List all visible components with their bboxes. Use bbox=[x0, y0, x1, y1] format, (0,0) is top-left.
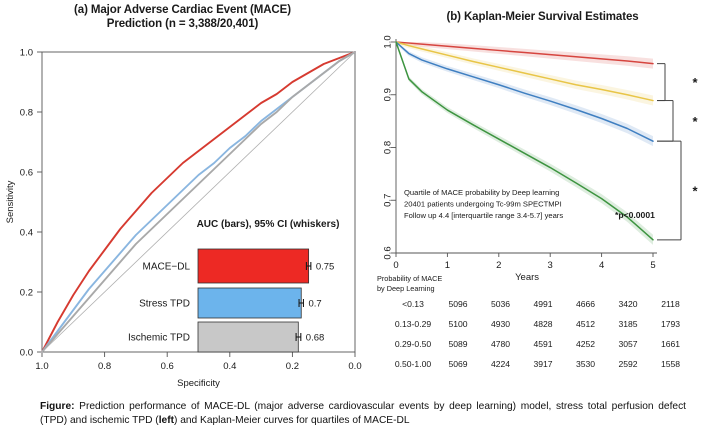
roc-xaxis-label: Specificity bbox=[177, 378, 220, 389]
risk-row-count: 3530 bbox=[576, 359, 595, 369]
km-ytick-label: 0.9 bbox=[383, 88, 394, 101]
km-xtick-label: 4 bbox=[599, 260, 604, 271]
caption-prefix: Figure: bbox=[40, 401, 75, 412]
km-ytick-label: 1.0 bbox=[383, 35, 394, 48]
km-plot: 0.60.70.80.91.0012345YearsQuartile of MA… bbox=[365, 0, 720, 392]
km-annotation-line: Follow up 4.4 [interquartile range 3.4-5… bbox=[404, 211, 563, 220]
significance-star: * bbox=[692, 75, 698, 90]
km-xtick-label: 2 bbox=[496, 260, 501, 271]
risk-table-header-line1: Probability of MACE bbox=[377, 274, 442, 283]
risk-table-header-line2: by Deep Learning bbox=[377, 284, 435, 293]
auc-bar-label: Stress TPD bbox=[139, 299, 190, 310]
auc-bar-value: 0.68 bbox=[306, 333, 325, 344]
roc-ytick-label: 0.6 bbox=[20, 167, 33, 178]
significance-star: * bbox=[692, 183, 698, 198]
risk-row-count: 4666 bbox=[576, 299, 595, 309]
km-ytick-label: 0.6 bbox=[383, 246, 394, 259]
roc-xtick-label: 1.0 bbox=[35, 361, 48, 372]
risk-row-count: 5089 bbox=[448, 339, 467, 349]
km-significance-bracket: * bbox=[657, 64, 698, 101]
risk-row-count: 1558 bbox=[661, 359, 680, 369]
risk-row-count: 5100 bbox=[448, 319, 467, 329]
auc-bar-label: MACE−DL bbox=[142, 262, 190, 273]
risk-row-count: 4930 bbox=[491, 319, 510, 329]
roc-xtick-label: 0.6 bbox=[161, 361, 174, 372]
auc-bar bbox=[198, 249, 309, 283]
risk-row-count: 3420 bbox=[618, 299, 637, 309]
figure-caption: Figure: Prediction performance of MACE-D… bbox=[40, 400, 686, 427]
figure-container: (a) Major Adverse Cardiac Event (MACE) P… bbox=[0, 0, 720, 442]
risk-row-count: 4780 bbox=[491, 339, 510, 349]
auc-bar bbox=[198, 288, 301, 318]
auc-bar-label: Ischemic TPD bbox=[128, 333, 190, 344]
roc-ytick-label: 0.8 bbox=[20, 107, 33, 118]
risk-row-label: <0.13 bbox=[402, 299, 424, 309]
panel-a-roc: (a) Major Adverse Cardiac Event (MACE) P… bbox=[0, 0, 365, 392]
risk-row-count: 4591 bbox=[533, 339, 552, 349]
risk-row-count: 3057 bbox=[618, 339, 637, 349]
risk-table-row: 0.13-0.29510049304828451231851793 bbox=[395, 319, 680, 329]
risk-table-row: <0.13509650364991466634202118 bbox=[402, 299, 680, 309]
roc-ytick-label: 0.2 bbox=[20, 287, 33, 298]
roc-ytick-label: 0.0 bbox=[20, 347, 33, 358]
auc-legend-title: AUC (bars), 95% CI (whiskers) bbox=[197, 219, 340, 230]
risk-row-count: 3185 bbox=[618, 319, 637, 329]
roc-xtick-label: 0.8 bbox=[98, 361, 111, 372]
risk-row-count: 4224 bbox=[491, 359, 510, 369]
risk-row-count: 4991 bbox=[533, 299, 552, 309]
km-significance-bracket: * bbox=[657, 141, 698, 240]
risk-row-count: 1793 bbox=[661, 319, 680, 329]
risk-row-count: 4828 bbox=[533, 319, 552, 329]
auc-bar-value: 0.75 bbox=[316, 262, 335, 273]
roc-xtick-label: 0.0 bbox=[348, 361, 361, 372]
km-significance-bracket: * bbox=[657, 101, 698, 142]
risk-row-label: 0.50-1.00 bbox=[395, 359, 432, 369]
risk-row-label: 0.13-0.29 bbox=[395, 319, 432, 329]
roc-plot: 0.00.20.40.60.81.01.00.80.60.40.20.0Spec… bbox=[0, 0, 365, 392]
km-xaxis-label: Years bbox=[515, 272, 539, 283]
auc-bar-value: 0.7 bbox=[308, 299, 321, 310]
km-ytick-label: 0.7 bbox=[383, 194, 394, 207]
auc-bar bbox=[198, 322, 298, 352]
risk-row-count: 1661 bbox=[661, 339, 680, 349]
km-annotation-line: 20401 patients undergoing Tc-99m SPECTMP… bbox=[404, 200, 562, 209]
risk-table-row: 0.50-1.00506942243917353025921558 bbox=[395, 359, 680, 369]
risk-row-label: 0.29-0.50 bbox=[395, 339, 432, 349]
risk-row-count: 5069 bbox=[448, 359, 467, 369]
km-xtick-label: 5 bbox=[650, 260, 655, 271]
roc-xtick-label: 0.2 bbox=[286, 361, 299, 372]
risk-row-count: 3917 bbox=[533, 359, 552, 369]
km-xtick-label: 3 bbox=[548, 260, 553, 271]
risk-row-count: 2118 bbox=[661, 299, 680, 309]
km-xtick-label: 0 bbox=[393, 260, 398, 271]
caption-text-2: ) and Kaplan-Meier curves for quartiles … bbox=[174, 415, 410, 426]
risk-row-count: 2592 bbox=[618, 359, 637, 369]
km-ytick-label: 0.8 bbox=[383, 141, 394, 154]
risk-row-count: 5096 bbox=[448, 299, 467, 309]
roc-yaxis-label: Sensitivity bbox=[5, 180, 16, 223]
km-xtick-label: 1 bbox=[445, 260, 450, 271]
km-annotation-line: Quartile of MACE probability by Deep lea… bbox=[404, 188, 559, 197]
risk-row-count: 5036 bbox=[491, 299, 510, 309]
significance-star: * bbox=[692, 114, 698, 129]
km-pvalue: *p<0.0001 bbox=[615, 210, 655, 220]
panel-b-km: (b) Kaplan-Meier Survival Estimates 0.60… bbox=[365, 0, 720, 392]
risk-row-count: 4512 bbox=[576, 319, 595, 329]
risk-row-count: 4252 bbox=[576, 339, 595, 349]
risk-table-row: 0.29-0.50508947804591425230571661 bbox=[395, 339, 680, 349]
roc-xtick-label: 0.4 bbox=[223, 361, 236, 372]
roc-ytick-label: 1.0 bbox=[20, 47, 33, 58]
caption-bold-1: left bbox=[159, 415, 174, 426]
roc-ytick-label: 0.4 bbox=[20, 227, 33, 238]
